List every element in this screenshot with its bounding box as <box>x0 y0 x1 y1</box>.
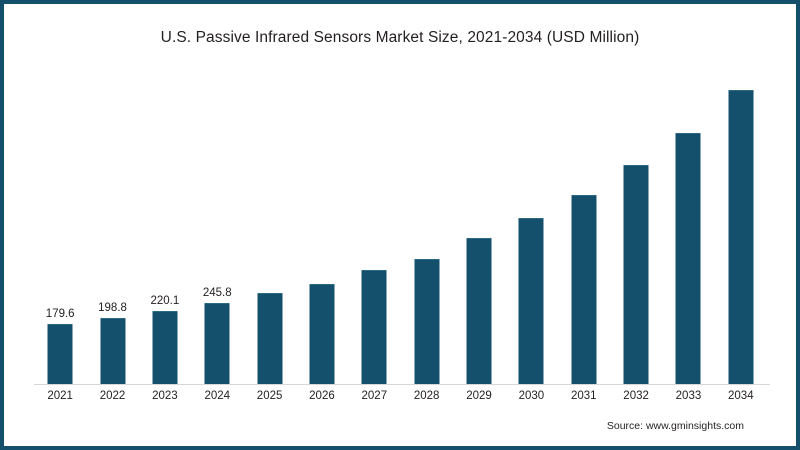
chart-title: U.S. Passive Infrared Sensors Market Siz… <box>0 29 800 47</box>
bar-2031[interactable] <box>571 195 596 384</box>
bar-slot: 198.8 <box>86 70 138 384</box>
x-tick-2032: 2032 <box>610 390 662 402</box>
bar-slot <box>558 70 610 384</box>
bar-2029[interactable] <box>467 238 492 384</box>
bar-slot <box>715 70 767 384</box>
bar-slot <box>296 70 348 384</box>
source-credit: Source: www.gminsights.com <box>607 420 744 432</box>
bar-slot <box>610 70 662 384</box>
x-tick-2033: 2033 <box>662 390 714 402</box>
bar-2025[interactable] <box>257 293 282 384</box>
bar-slot <box>348 70 400 384</box>
chart-figure: U.S. Passive Infrared Sensors Market Siz… <box>0 0 800 450</box>
bar-2024[interactable] <box>205 303 230 384</box>
x-tick-2025: 2025 <box>243 390 295 402</box>
bar-2023[interactable] <box>152 311 177 384</box>
bar-slot <box>243 70 295 384</box>
bar-slot: 245.8 <box>191 70 243 384</box>
x-axis-tick-labels: 2021202220232024202520262027202820292030… <box>34 390 767 410</box>
x-tick-2026: 2026 <box>296 390 348 402</box>
bar-value-label-2021: 179.6 <box>46 308 75 320</box>
x-tick-2030: 2030 <box>505 390 557 402</box>
bar-2028[interactable] <box>414 259 439 384</box>
x-tick-2022: 2022 <box>86 390 138 402</box>
bar-2030[interactable] <box>519 218 544 384</box>
x-tick-2024: 2024 <box>191 390 243 402</box>
bar-2021[interactable] <box>48 324 73 384</box>
x-tick-2031: 2031 <box>558 390 610 402</box>
bar-2022[interactable] <box>100 318 125 384</box>
bar-slot: 179.6 <box>34 70 86 384</box>
bar-slot: 220.1 <box>139 70 191 384</box>
x-tick-2023: 2023 <box>139 390 191 402</box>
bar-2027[interactable] <box>362 270 387 384</box>
x-tick-2027: 2027 <box>348 390 400 402</box>
x-tick-2029: 2029 <box>453 390 505 402</box>
bar-2032[interactable] <box>624 165 649 384</box>
bar-slot <box>401 70 453 384</box>
x-tick-2028: 2028 <box>401 390 453 402</box>
bar-value-label-2024: 245.8 <box>203 287 232 299</box>
bar-value-label-2023: 220.1 <box>151 295 180 307</box>
bar-value-label-2022: 198.8 <box>98 302 127 314</box>
plot-area: 179.6198.8220.1245.8 <box>34 70 767 384</box>
bar-2033[interactable] <box>676 133 701 384</box>
x-axis-line <box>34 384 770 385</box>
bar-2026[interactable] <box>309 284 334 384</box>
bar-slot <box>505 70 557 384</box>
x-tick-2034: 2034 <box>715 390 767 402</box>
bar-2034[interactable] <box>728 90 753 384</box>
bar-slot <box>662 70 714 384</box>
x-tick-2021: 2021 <box>34 390 86 402</box>
bar-slot <box>453 70 505 384</box>
